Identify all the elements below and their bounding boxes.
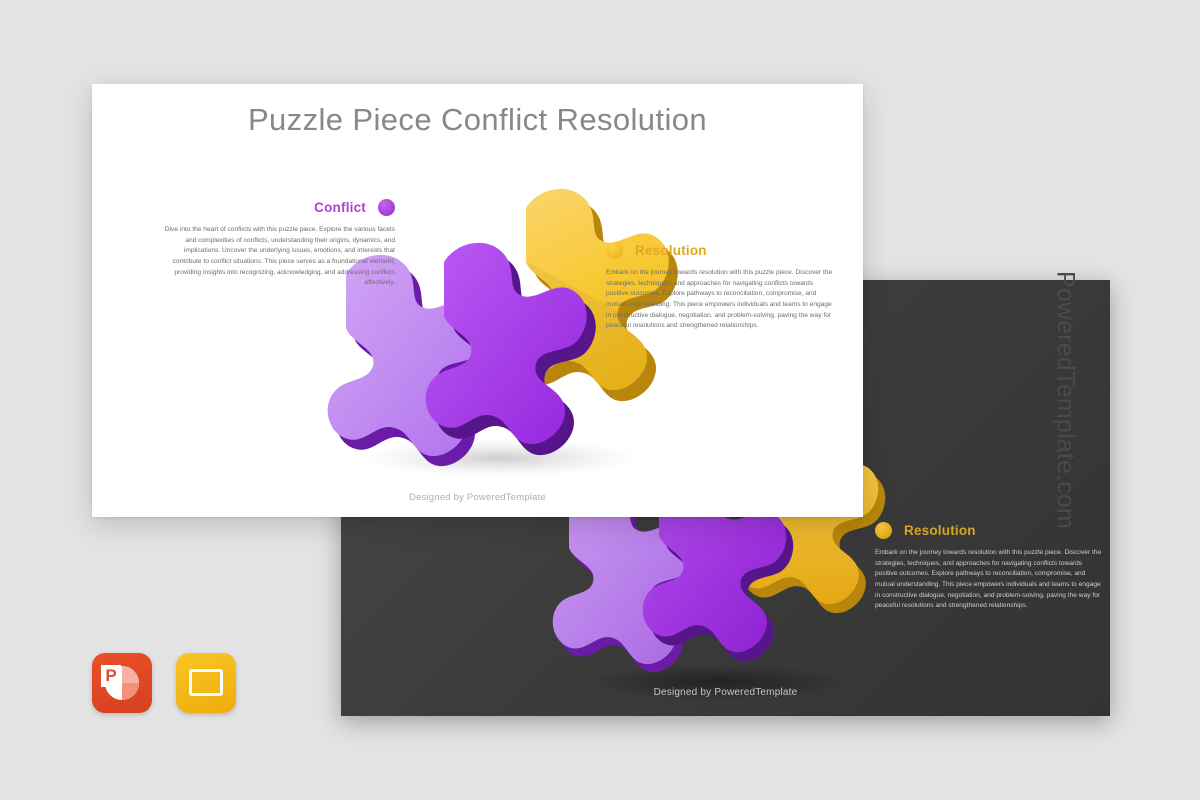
site-watermark: PoweredTemplate.com xyxy=(1050,271,1079,529)
powerpoint-icon[interactable]: P xyxy=(92,653,152,713)
dark-resolution-heading: Resolution xyxy=(904,523,976,538)
slide-preview-light[interactable]: Puzzle Piece Conflict Resolution xyxy=(92,84,863,517)
yellow-dot-icon xyxy=(606,242,623,259)
resolution-heading-row: Resolution xyxy=(606,242,836,259)
dark-resolution-block: Resolution Embark on the journey towards… xyxy=(875,522,1105,612)
format-icons-group: P xyxy=(92,653,236,713)
conflict-heading: Conflict xyxy=(314,200,366,215)
light-slide-footer: Designed by PoweredTemplate xyxy=(92,492,863,503)
slide-light-title: Puzzle Piece Conflict Resolution xyxy=(92,102,863,138)
yellow-dot-icon xyxy=(875,522,892,539)
resolution-heading: Resolution xyxy=(635,243,707,258)
resolution-block: Resolution Embark on the journey towards… xyxy=(606,242,836,332)
dark-resolution-body: Embark on the journey towards resolution… xyxy=(875,548,1105,612)
conflict-body: Dive into the heart of conflicts with th… xyxy=(160,225,395,289)
resolution-body: Embark on the journey towards resolution… xyxy=(606,268,836,332)
conflict-heading-row: Conflict xyxy=(160,199,395,216)
slides-screen-glyph xyxy=(189,669,223,696)
purple-dot-icon xyxy=(378,199,395,216)
google-slides-icon[interactable] xyxy=(176,653,236,713)
powerpoint-letter: P xyxy=(101,665,121,687)
dark-slide-footer: Designed by PoweredTemplate xyxy=(341,687,1110,698)
conflict-block: Conflict Dive into the heart of conflict… xyxy=(160,199,395,289)
